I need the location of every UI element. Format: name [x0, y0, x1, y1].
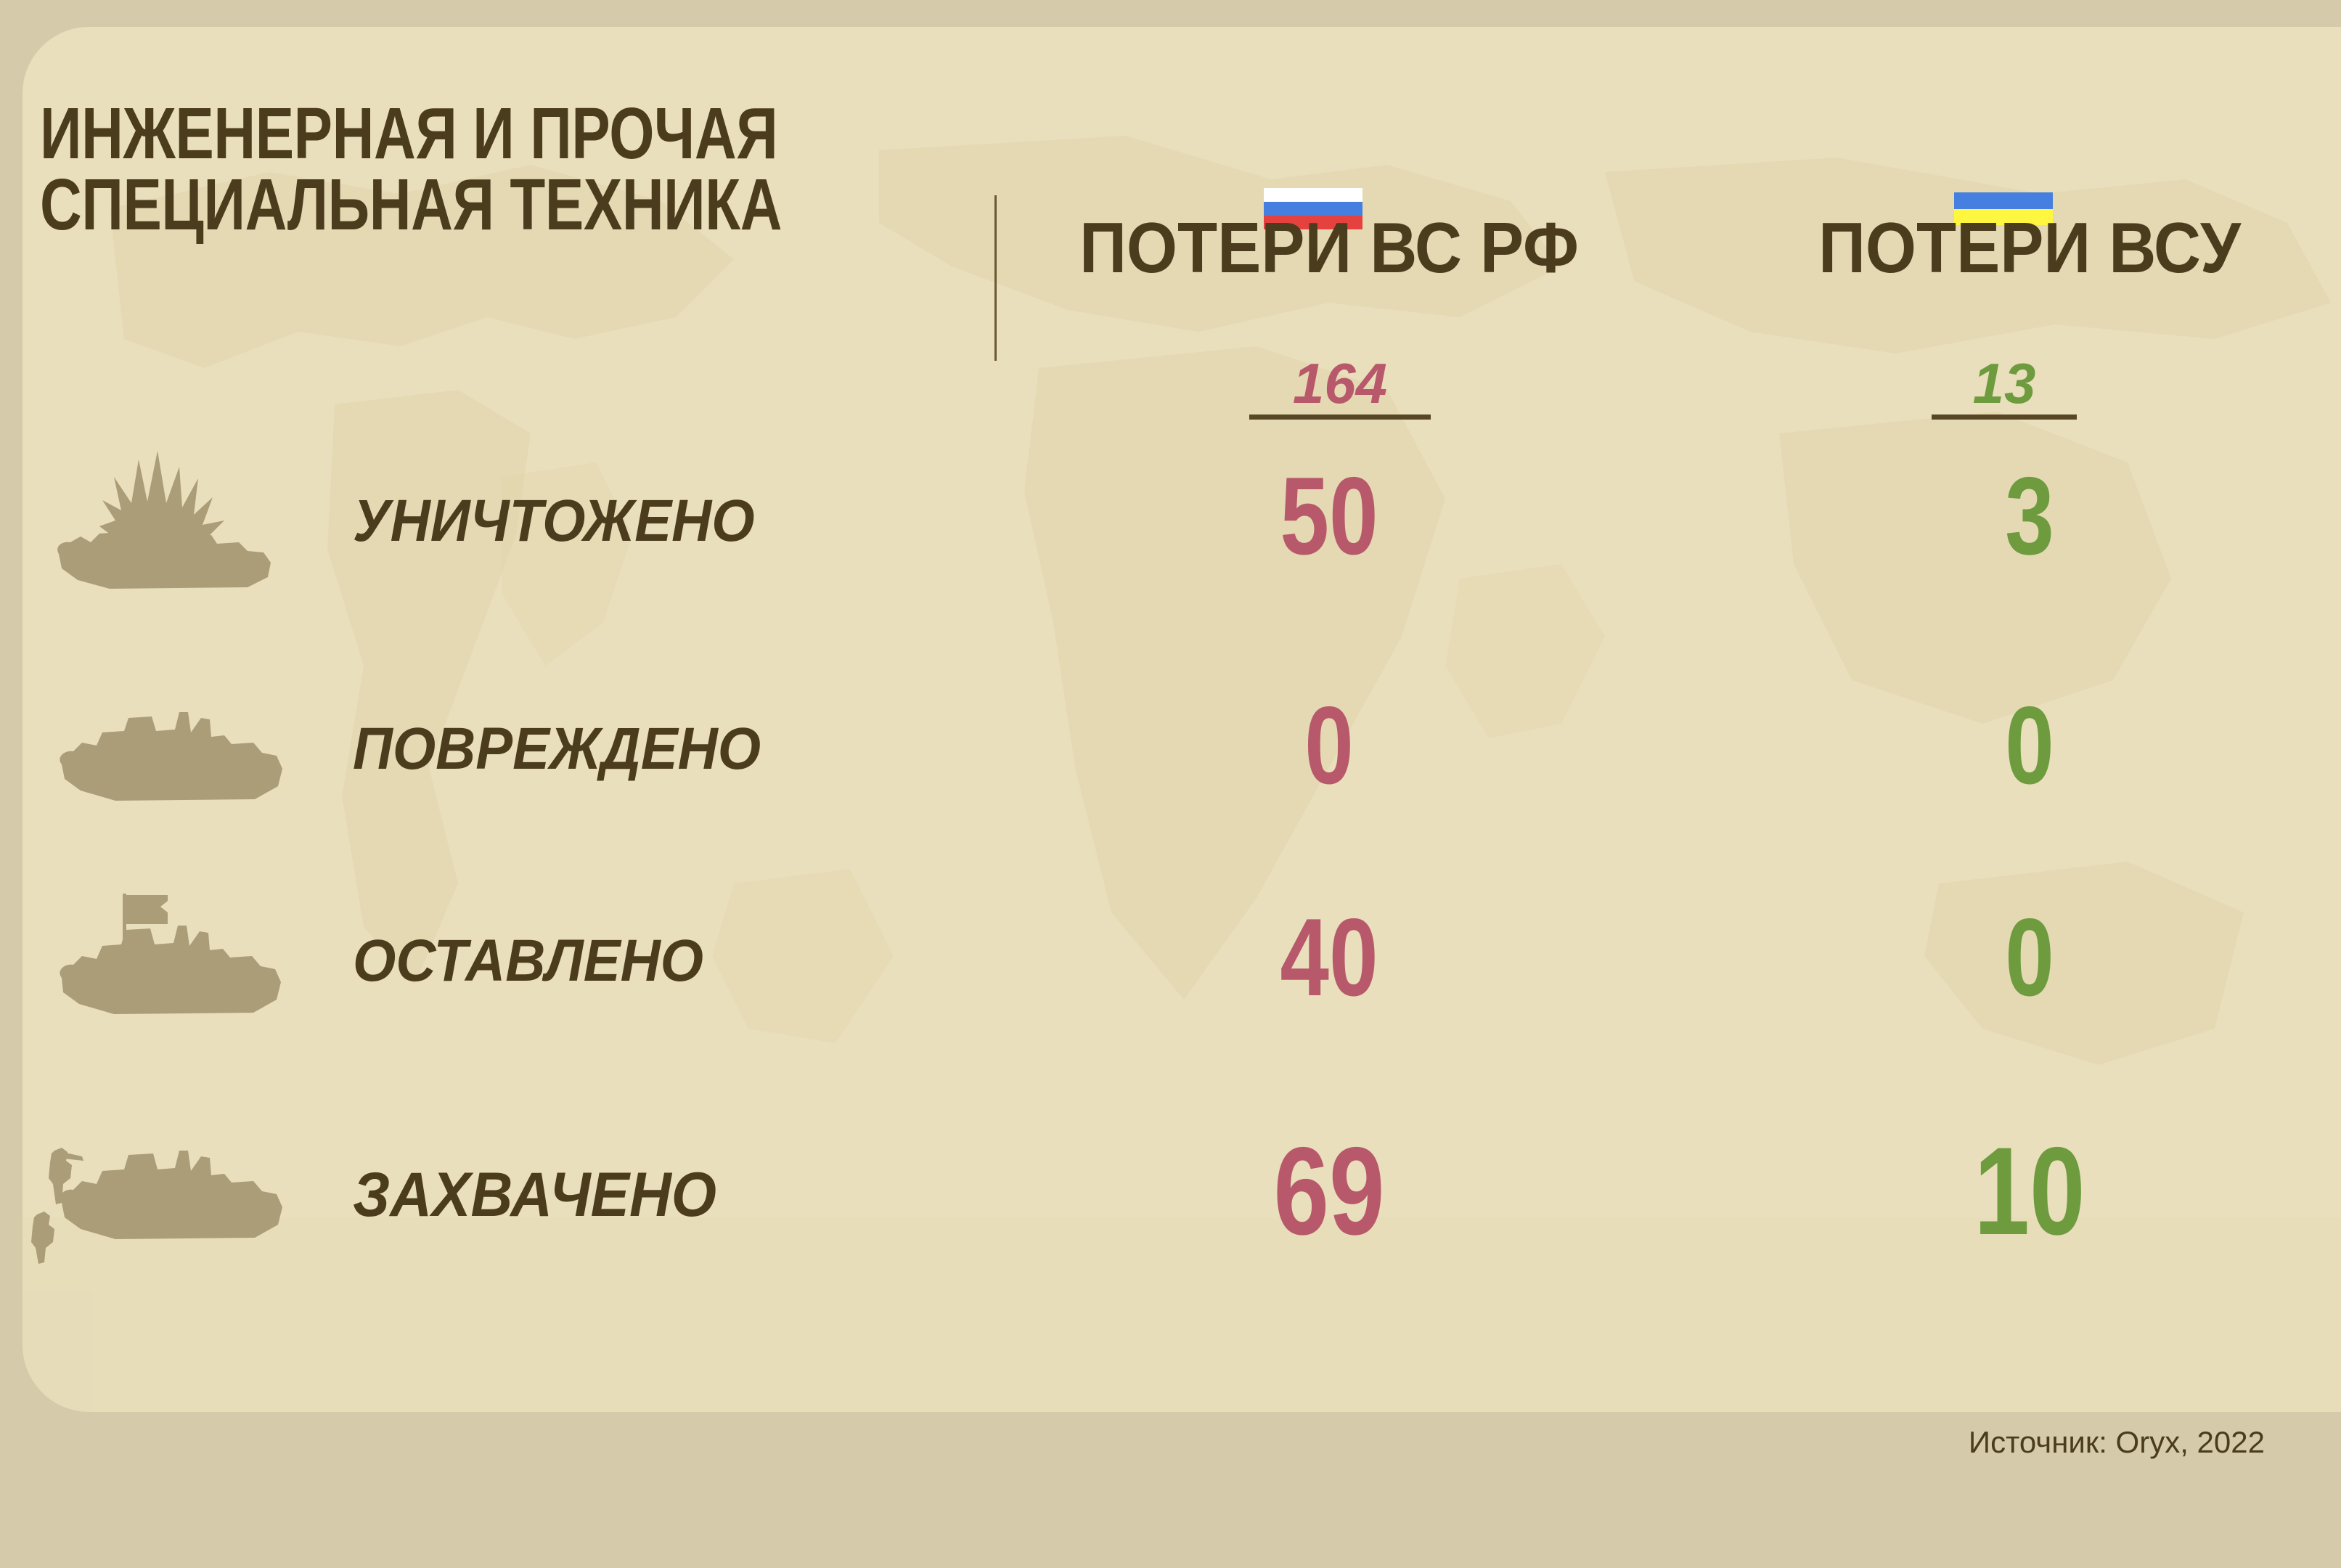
column-header-russia: ПОТЕРИ ВС РФ [1032, 212, 1627, 283]
damaged-vehicle-icon [30, 670, 320, 830]
value-damaged-russia: 0 [1071, 690, 1588, 801]
value-destroyed-russia: 50 [1071, 461, 1588, 571]
header-divider [994, 195, 997, 361]
destroyed-vehicle-icon [30, 445, 320, 605]
total-russia: 164 [1249, 355, 1431, 420]
captured-vehicle-icon [30, 1108, 320, 1268]
value-abandoned-russia: 40 [1071, 902, 1588, 1013]
total-ukraine-rule [1932, 415, 2077, 420]
total-russia-value: 164 [1288, 355, 1392, 412]
page-title: ИНЖЕНЕРНАЯ И ПРОЧАЯ СПЕЦИАЛЬНАЯ ТЕХНИКА [40, 98, 789, 240]
value-destroyed-ukraine: 3 [1777, 461, 2282, 571]
total-ukraine: 13 [1932, 355, 2077, 420]
table-row: ПОВРЕЖДЕНО 0 0 [23, 670, 2341, 830]
total-russia-rule [1249, 415, 1431, 420]
page-title-line-1: ИНЖЕНЕРНАЯ И ПРОЧАЯ [40, 93, 777, 174]
value-captured-ukraine: 10 [1777, 1129, 2282, 1254]
row-label-captured: ЗАХВАЧЕНО [353, 1164, 716, 1226]
row-label-destroyed: УНИЧТОЖЕНО [353, 491, 755, 551]
total-ukraine-value: 13 [1969, 355, 2040, 412]
row-label-abandoned: ОСТАВЛЕНО [353, 931, 703, 991]
value-damaged-ukraine: 0 [1777, 690, 2282, 801]
source-attribution: Источник: Oryx, 2022 [1829, 1425, 2265, 1460]
row-label-damaged: ПОВРЕЖДЕНО [353, 719, 761, 779]
content-panel: ИНЖЕНЕРНАЯ И ПРОЧАЯ СПЕЦИАЛЬНАЯ ТЕХНИКА … [23, 27, 2341, 1412]
value-abandoned-ukraine: 0 [1777, 902, 2282, 1013]
table-row: ЗАХВАЧЕНО 69 10 [23, 1108, 2341, 1268]
infographic-root: ИНЖЕНЕРНАЯ И ПРОЧАЯ СПЕЦИАЛЬНАЯ ТЕХНИКА … [0, 0, 2341, 1568]
table-row: ОСТАВЛЕНО 40 0 [23, 883, 2341, 1043]
value-captured-russia: 69 [1071, 1129, 1588, 1254]
abandoned-vehicle-icon [30, 883, 320, 1043]
table-row: УНИЧТОЖЕНО 50 3 [23, 445, 2341, 605]
page-title-line-2: СПЕЦИАЛЬНАЯ ТЕХНИКА [40, 169, 789, 240]
column-header-ukraine: ПОТЕРИ ВСУ [1739, 212, 2320, 283]
